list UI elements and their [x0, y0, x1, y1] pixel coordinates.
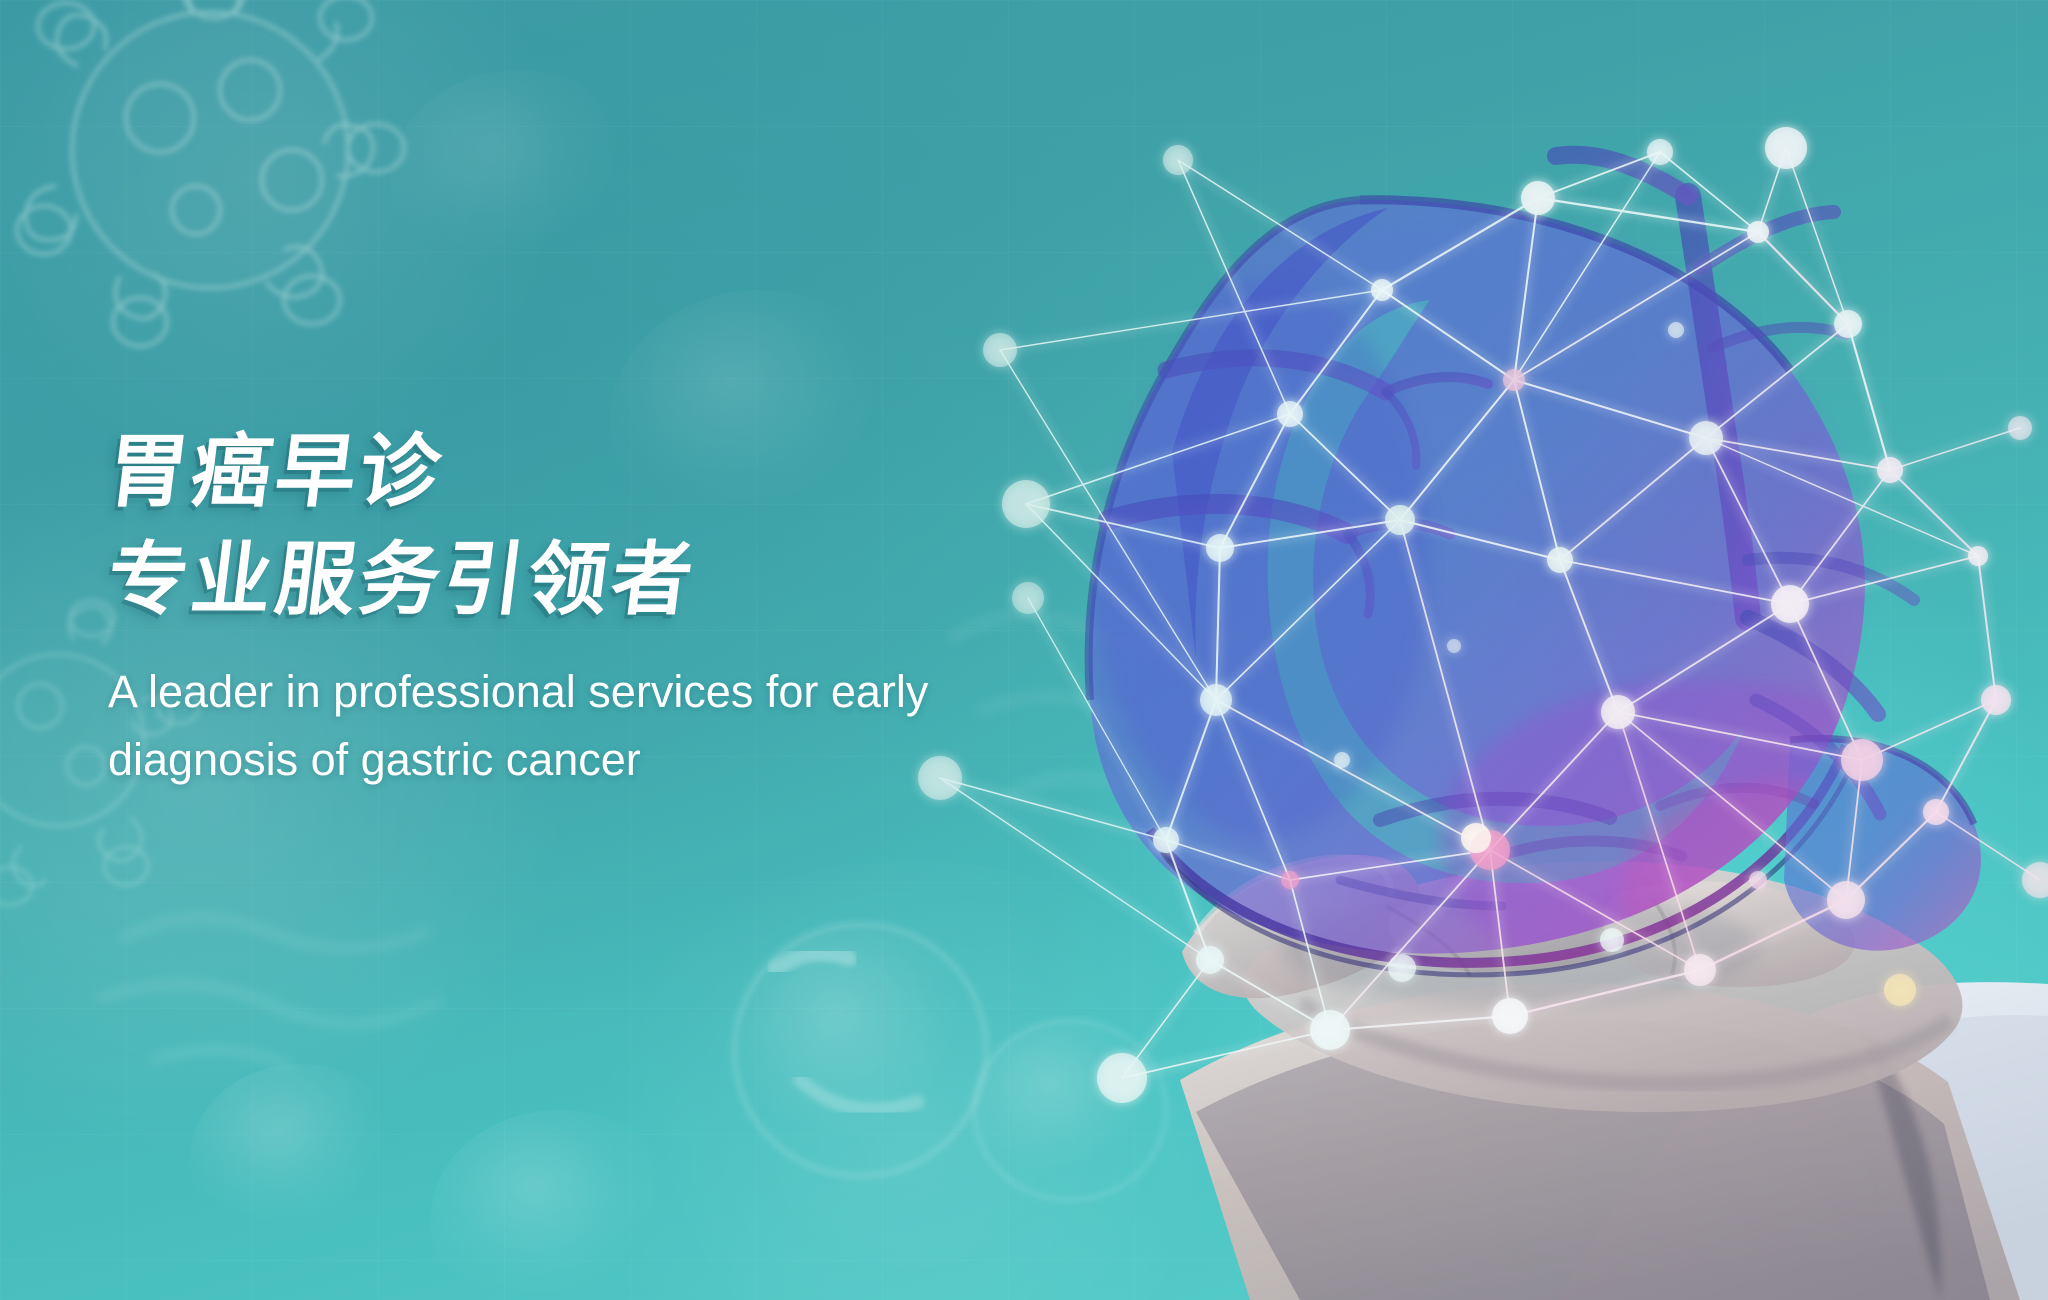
subtitle-en-line2: diagnosis of gastric cancer [108, 726, 1158, 794]
lab-coat-sleeve [1560, 982, 2048, 1300]
bacteria-icon-left-lower [96, 918, 440, 1066]
hero-text-block: 胃癌早诊 专业服务引领者 A leader in professional se… [108, 418, 1158, 794]
background-bloom-bottom [560, 860, 1260, 1300]
virus-icon-top-left [17, 0, 404, 346]
forearm [1180, 983, 2020, 1300]
hero-banner: 胃癌早诊 专业服务引领者 A leader in professional se… [0, 0, 2048, 1300]
open-palm-hand [1182, 855, 1962, 1112]
headline-cn-line2: 专业服务引领者 [101, 526, 1164, 634]
stomach-organ [1089, 155, 1981, 1000]
subtitle-en-line1: A leader in professional services for ea… [108, 658, 1158, 726]
headline-cn-line1: 胃癌早诊 [101, 418, 1164, 526]
background-bloom-top-left [0, 0, 580, 480]
stomach-vessels [1108, 155, 1914, 906]
subtitle-en-block: A leader in professional services for ea… [108, 658, 1158, 794]
